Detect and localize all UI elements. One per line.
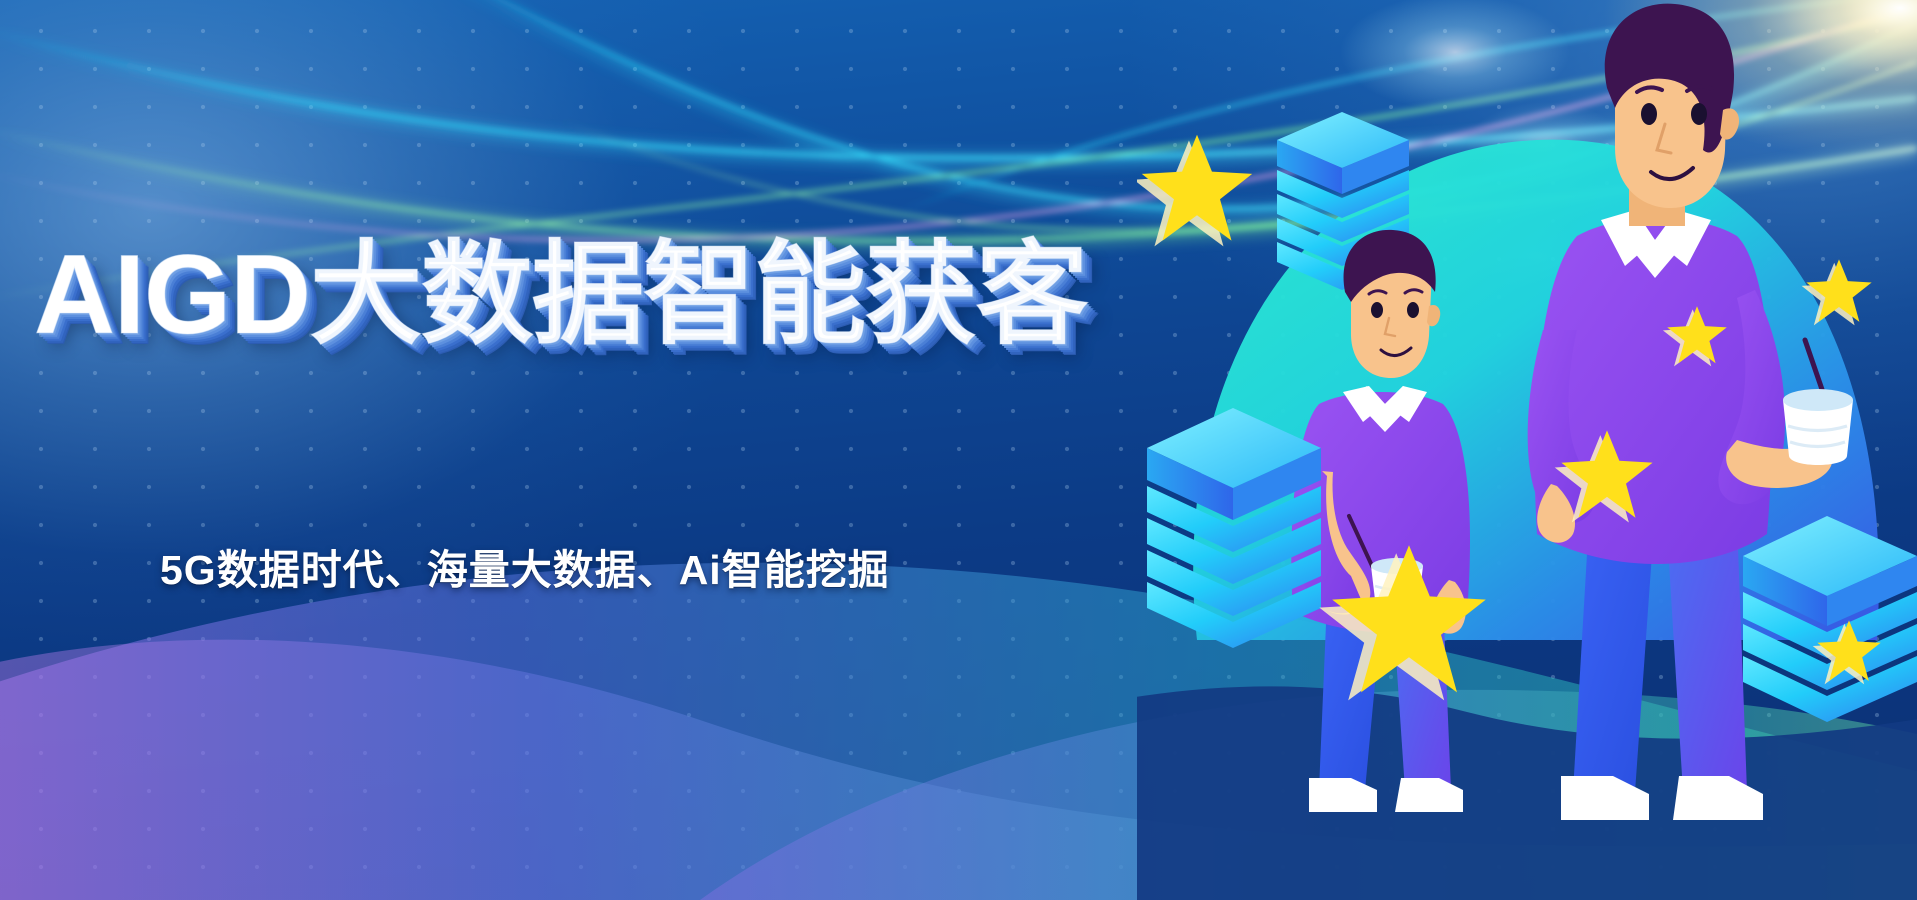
page-title: AIGD大数据智能获客	[34, 236, 1087, 355]
headline-container: AIGD大数据智能获客	[34, 236, 1087, 355]
big-data-people-illustration	[1137, 0, 1917, 900]
cup-right	[1783, 389, 1853, 465]
promotional-banner: AIGD大数据智能获客 5G数据时代、海量大数据、Ai智能挖掘	[0, 0, 1917, 900]
page-subtitle: 5G数据时代、海量大数据、Ai智能挖掘	[160, 536, 890, 596]
database-stack-right	[1743, 516, 1917, 722]
